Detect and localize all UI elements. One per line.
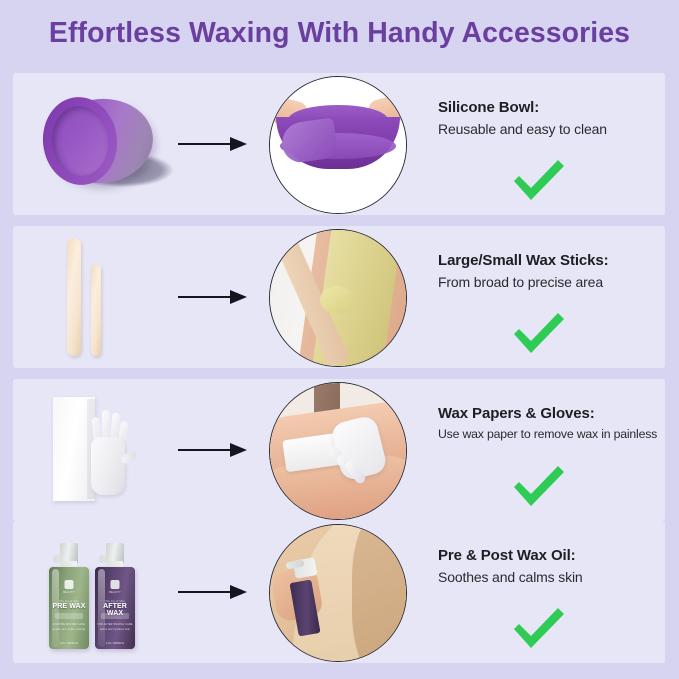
arrow-shaft bbox=[178, 591, 233, 593]
feature-text-pre-post-wax-oil: Pre & Post Wax Oil: Soothes and calms sk… bbox=[438, 547, 676, 586]
photo-scene bbox=[270, 77, 406, 213]
arrow-shaft bbox=[178, 143, 233, 145]
arrow-shaft bbox=[178, 449, 233, 451]
green-check-icon bbox=[508, 310, 568, 354]
latex-glove bbox=[83, 401, 135, 501]
bottle-brand: BEAUTY bbox=[49, 591, 89, 594]
feature-row-wax-sticks: Large/Small Wax Sticks: From broad to pr… bbox=[13, 226, 665, 368]
right-arrow-icon bbox=[178, 290, 248, 304]
after-wax-bottle: BEAUTY The Joy of Skin AFTER WAX FOR AFT… bbox=[93, 543, 137, 649]
wax-stick-spreading-wax-photo bbox=[269, 229, 407, 367]
arrow-head bbox=[230, 443, 247, 457]
feature-text-wax-papers-gloves: Wax Papers & Gloves: Use wax paper to re… bbox=[438, 405, 676, 442]
photo-scene bbox=[270, 230, 406, 366]
bottle-desc-line2: calms and hydrates skin bbox=[95, 628, 135, 631]
feature-subtitle: Use wax paper to remove wax in painless bbox=[438, 427, 676, 442]
spraying-wax-oil-on-skin-photo bbox=[269, 524, 407, 662]
bottle-descriptor-bar bbox=[55, 613, 83, 619]
bottle-body: BEAUTY The Joy of Skin PRE WAX FOR PRE W… bbox=[49, 567, 89, 649]
feature-row-wax-papers-gloves: Wax Papers & Gloves: Use wax paper to re… bbox=[13, 379, 665, 521]
green-check-icon bbox=[508, 157, 568, 201]
silicone-bowl-icon bbox=[43, 91, 168, 196]
feature-title: Pre & Post Wax Oil: bbox=[438, 547, 676, 565]
product-image-silicone-bowl bbox=[21, 73, 171, 215]
arrow-shaft bbox=[178, 296, 233, 298]
right-arrow-icon bbox=[178, 585, 248, 599]
product-image-wax-oils: BEAUTY The Joy of Skin PRE WAX FOR PRE W… bbox=[21, 521, 171, 663]
bottle-desc-line2: gentle care before waxing bbox=[49, 628, 89, 631]
green-check-icon bbox=[508, 463, 568, 507]
page-title-bar: Effortless Waxing With Handy Accessories bbox=[0, 0, 679, 66]
product-image-wax-sticks bbox=[21, 226, 171, 368]
feature-subtitle: Soothes and calms skin bbox=[438, 569, 676, 586]
large-wax-stick bbox=[67, 238, 81, 356]
bottle-name: PRE WAX bbox=[49, 603, 89, 610]
arrow-head bbox=[230, 137, 247, 151]
arrow-head bbox=[230, 290, 247, 304]
photo-scene bbox=[270, 525, 406, 661]
bottle-descriptor-bar bbox=[101, 613, 129, 619]
brand-mark-icon bbox=[111, 580, 120, 589]
bottle-volume: 2 FL OZ/60ml bbox=[49, 641, 89, 645]
feature-title: Large/Small Wax Sticks: bbox=[438, 252, 676, 270]
pre-wax-bottle: BEAUTY The Joy of Skin PRE WAX FOR PRE W… bbox=[47, 543, 91, 649]
glove-palm bbox=[91, 437, 125, 495]
bottle-volume: 2 FL OZ/60ml bbox=[95, 641, 135, 645]
small-wax-stick bbox=[91, 264, 101, 356]
gloved-hand-applying-wax-strip-photo bbox=[269, 382, 407, 520]
feature-text-silicone-bowl: Silicone Bowl: Reusable and easy to clea… bbox=[438, 99, 676, 138]
bottle-desc-line1: FOR AFTER WAXING CARE bbox=[95, 623, 135, 626]
wooden-wax-sticks-icon bbox=[21, 226, 171, 368]
product-image-wax-papers-gloves bbox=[21, 379, 171, 521]
wax-blob bbox=[320, 286, 354, 314]
feature-text-wax-sticks: Large/Small Wax Sticks: From broad to pr… bbox=[438, 252, 676, 291]
page-title: Effortless Waxing With Handy Accessories bbox=[49, 17, 630, 50]
photo-scene bbox=[270, 383, 406, 519]
feature-subtitle: Reusable and easy to clean bbox=[438, 121, 676, 138]
feature-title: Silicone Bowl: bbox=[438, 99, 676, 117]
feature-row-silicone-bowl: Silicone Bowl: Reusable and easy to clea… bbox=[13, 73, 665, 215]
right-arrow-icon bbox=[178, 443, 248, 457]
wax-paper-and-glove-icon bbox=[21, 379, 171, 521]
pre-and-after-wax-spray-bottles-icon: BEAUTY The Joy of Skin PRE WAX FOR PRE W… bbox=[21, 521, 171, 663]
brand-mark-icon bbox=[65, 580, 74, 589]
green-check-icon bbox=[508, 605, 568, 649]
infographic-page: Effortless Waxing With Handy Accessories bbox=[0, 0, 679, 679]
bottle-cap bbox=[106, 543, 124, 563]
bottle-body: BEAUTY The Joy of Skin AFTER WAX FOR AFT… bbox=[95, 567, 135, 649]
feature-subtitle: From broad to precise area bbox=[438, 274, 676, 291]
bottle-desc-line1: FOR PRE WAXING CARE bbox=[49, 623, 89, 626]
right-arrow-icon bbox=[178, 137, 248, 151]
feature-row-pre-post-wax-oil: BEAUTY The Joy of Skin PRE WAX FOR PRE W… bbox=[13, 521, 665, 663]
bottle-brand: BEAUTY bbox=[95, 591, 135, 594]
arrow-head bbox=[230, 585, 247, 599]
hands-flexing-silicone-bowl-photo bbox=[269, 76, 407, 214]
skin-contour bbox=[352, 524, 407, 662]
bottle-cap bbox=[60, 543, 78, 563]
feature-title: Wax Papers & Gloves: bbox=[438, 405, 676, 423]
